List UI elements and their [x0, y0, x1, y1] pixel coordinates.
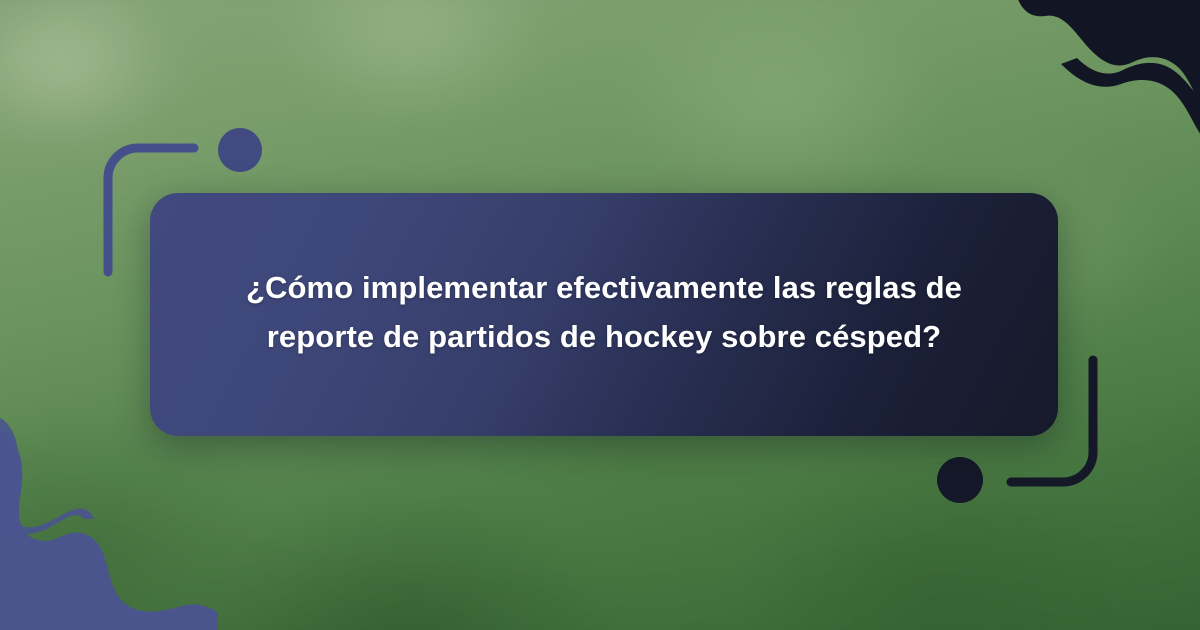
question-text: ¿Cómo implementar efectivamente las regl… [194, 264, 1014, 362]
dark-corner-blob-top-right [987, 0, 1200, 211]
blue-corner-blob-bottom-left [0, 417, 218, 630]
question-card: ¿Cómo implementar efectivamente las regl… [150, 193, 1058, 436]
share-card-canvas: ¿Cómo implementar efectivamente las regl… [0, 0, 1200, 630]
